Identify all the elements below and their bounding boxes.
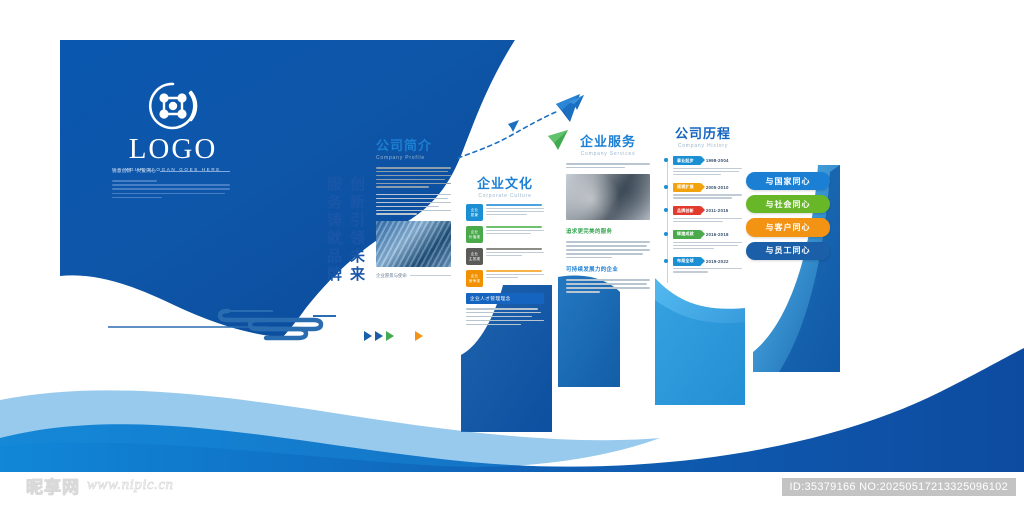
- triangle-arrow-group: [364, 331, 423, 341]
- panel-title: 公司历程: [664, 128, 742, 142]
- culture-wall-canvas: LOGO YOUR SLOGAN GOES HERE 锐意创新 · 大爱同心 创…: [0, 0, 1024, 512]
- business-handshake-photo: [566, 174, 650, 220]
- panel-subtitle: Company Services: [566, 151, 650, 157]
- triangle-arrow-orange: [415, 331, 423, 341]
- timeline-label: 事业起步: [677, 158, 694, 163]
- timeline-years: 2005-2010: [706, 185, 729, 190]
- culture-tag-row: 企业价值观: [466, 226, 544, 243]
- triangle-arrow-green: [386, 331, 394, 341]
- watermark: 昵享网 www.nipic.cn: [26, 473, 174, 498]
- culture-tag-row: 企业愿景: [466, 204, 544, 221]
- culture-tag-line2: 价值观: [469, 235, 480, 239]
- panel-paragraph: [376, 167, 451, 188]
- panel-corporate-culture: 企业文化 Corporate Culture 企业愿景 企业价值观 企业主张观: [466, 178, 544, 327]
- badge-society[interactable]: 与社会同心: [746, 195, 830, 213]
- culture-tag-line2: 主张观: [469, 257, 480, 261]
- triangle-arrow-blue-1: [364, 331, 372, 341]
- timeline-label: 辉煌成就: [677, 231, 694, 236]
- badge-customer[interactable]: 与客户同心: [746, 218, 830, 236]
- panel-company-services: 企业服务 Company Services 追求更完美的服务 可持续发展力的企业: [566, 136, 650, 295]
- culture-tag-box: 企业竞争观: [466, 270, 483, 287]
- culture-tag-box: 企业愿景: [466, 204, 483, 221]
- image-id-tag: ID:35379166 NO:20250517213325096102: [782, 478, 1016, 496]
- culture-tag-box: 企业主张观: [466, 248, 483, 265]
- timeline-years: 1998-2004: [706, 158, 729, 163]
- culture-tag-row: 企业竞争观: [466, 270, 544, 287]
- timeline-years: 2011-2015: [706, 208, 729, 213]
- panel-title: 企业服务: [566, 136, 650, 150]
- timeline-years: 2016-2018: [706, 232, 729, 237]
- panel-subtitle: Company Profile: [376, 155, 451, 161]
- timeline-label: 布局全球: [677, 258, 694, 263]
- panel-company-profile: 公司简介 Company Profile 企业愿景与使命: [376, 140, 451, 279]
- panel-company-history: 公司历程 Company History 事业起步 1998-2004 规模扩展…: [664, 128, 742, 280]
- triangle-arrow-blue-2: [375, 331, 383, 341]
- badge-country[interactable]: 与国家同心: [746, 172, 830, 190]
- timeline-item: 品牌创新 2011-2015: [673, 206, 742, 222]
- office-tower-photo: [376, 221, 451, 267]
- culture-tag-line2: 愿景: [471, 213, 479, 217]
- timeline-label: 规模扩展: [677, 184, 694, 189]
- watermark-url: www.nipic.cn: [87, 477, 174, 494]
- hr-philosophy-bar: 企业人才管理理念: [466, 293, 544, 304]
- panel-paragraph: [566, 163, 650, 168]
- culture-tag-line2: 竞争观: [469, 279, 480, 283]
- service-paragraph-1: [566, 241, 650, 258]
- hr-philosophy-list: [466, 308, 544, 325]
- badge-employee[interactable]: 与员工同心: [746, 242, 830, 260]
- timeline-item: 规模扩展 2005-2010: [673, 183, 742, 199]
- timeline-item: 辉煌成就 2016-2018: [673, 230, 742, 249]
- timeline-years: 2019-2022: [706, 259, 729, 264]
- paper-plane-tiny-icon: [566, 92, 588, 117]
- panel-subtitle: Corporate Culture: [466, 193, 544, 199]
- paper-plane-small-icon: [508, 120, 519, 132]
- timeline-label: 品牌创新: [677, 208, 694, 213]
- service-paragraph-2: [566, 279, 650, 292]
- panel-footer-note: 企业愿景与使命: [376, 273, 451, 279]
- panel-title: 企业文化: [466, 178, 544, 192]
- timeline-item: 布局全球 2019-2022: [673, 257, 742, 273]
- panel-footer-note-text: 企业愿景与使命: [376, 273, 407, 279]
- panel-subtitle: Company History: [664, 143, 742, 149]
- watermark-brand: 昵享网: [26, 473, 80, 498]
- timeline-item: 事业起步 1998-2004: [673, 156, 742, 175]
- history-timeline: 事业起步 1998-2004 规模扩展 2005-2010 品牌创新 2011-…: [664, 156, 742, 273]
- service-section-heading-1: 追求更完美的服务: [566, 227, 650, 235]
- panel-paragraph-2: [376, 194, 451, 215]
- service-section-heading-2: 可持续发展力的企业: [566, 265, 650, 273]
- culture-tag-box: 企业价值观: [466, 226, 483, 243]
- paper-plane-green-icon: [548, 130, 568, 150]
- concentric-badge-group: 与国家同心 与社会同心 与客户同心 与员工同心: [746, 172, 836, 265]
- culture-tag-row: 企业主张观: [466, 248, 544, 265]
- panel-title: 公司简介: [376, 140, 451, 154]
